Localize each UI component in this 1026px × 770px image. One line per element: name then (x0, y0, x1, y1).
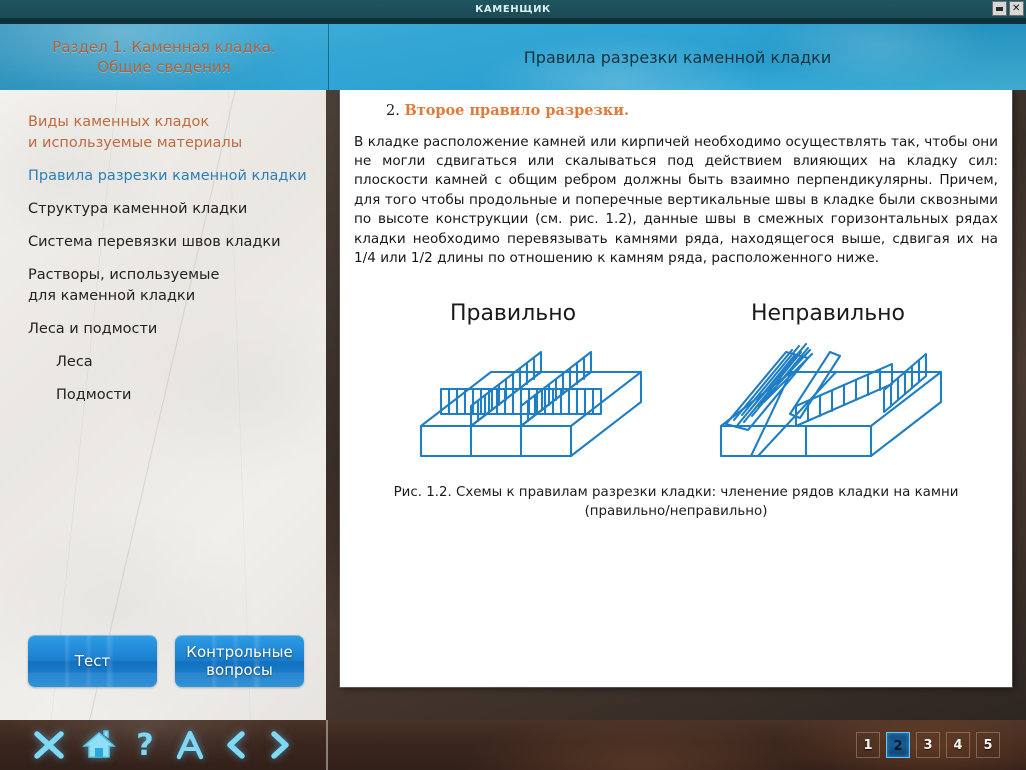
figure-caption-line-1: Рис. 1.2. Схемы к правилам разрезки клад… (352, 483, 1000, 502)
close-x-icon[interactable] (32, 729, 66, 761)
sidebar-item-label: Виды каменных кладок (28, 112, 312, 133)
close-button[interactable]: ✕ (1009, 1, 1024, 16)
content-heading-period: . (624, 102, 629, 119)
home-icon[interactable] (82, 729, 116, 761)
font-size-a-icon[interactable] (174, 729, 206, 761)
sidebar-item-label: Система перевязки швов кладки (28, 232, 312, 253)
sidebar: Виды каменных кладоки используемые матер… (0, 90, 326, 720)
page-title-block: Правила разрезки каменной кладки (329, 24, 1026, 90)
sidebar-item-label: Леса и подмости (28, 319, 312, 340)
window-title: КАМЕНЩИК (475, 4, 551, 15)
test-button[interactable]: Тест (28, 635, 157, 687)
figure-svg: Правильно Неправильно (396, 294, 956, 469)
svg-text:?: ? (136, 729, 153, 761)
content-heading-number: 2. (386, 103, 400, 119)
minimize-button[interactable] (992, 1, 1007, 16)
sidebar-item-1[interactable]: Правила разрезки каменной кладки (0, 160, 326, 193)
sidebar-item-3[interactable]: Система перевязки швов кладки (0, 226, 326, 259)
section-title-line-1: Раздел 1. Каменная кладка. (52, 37, 275, 57)
sidebar-action-buttons: ТестКонтрольныевопросы (28, 635, 304, 687)
toolbar-icon-group: ? (32, 720, 294, 770)
figure-caption: Рис. 1.2. Схемы к правилам разрезки клад… (352, 483, 1000, 521)
control-questions-button[interactable]: Контрольныевопросы (175, 635, 304, 687)
sidebar-item-label: Структура каменной кладки (28, 199, 312, 220)
page-number-group: 12345 (856, 720, 1000, 770)
section-title-line-2: Общие сведения (52, 57, 275, 77)
figure-label-incorrect: Неправильно (751, 301, 905, 326)
figure-label-correct: Правильно (450, 301, 576, 326)
figure-masonry-diagram: Правильно Неправильно (352, 294, 1000, 469)
section-title: Раздел 1. Каменная кладка. Общие сведени… (52, 37, 275, 77)
page-title: Правила разрезки каменной кладки (524, 48, 831, 67)
sidebar-item-label: для каменной кладки (28, 286, 312, 307)
page-button-3[interactable]: 3 (916, 732, 940, 758)
page-button-1[interactable]: 1 (856, 732, 880, 758)
sidebar-item-0[interactable]: Виды каменных кладоки используемые матер… (0, 106, 326, 160)
bottom-toolbar-divider (326, 720, 328, 770)
sidebar-menu: Виды каменных кладоки используемые матер… (0, 90, 326, 412)
sidebar-item-label: Растворы, используемые (28, 265, 312, 286)
section-title-block: Раздел 1. Каменная кладка. Общие сведени… (0, 24, 328, 90)
window-controls: ✕ (992, 1, 1024, 16)
window-title-bar: КАМЕНЩИК ✕ (0, 0, 1026, 18)
diagram-incorrect (721, 344, 941, 456)
sidebar-item-label: и используемые материалы (28, 133, 312, 154)
button-label: Контрольныевопросы (186, 643, 292, 679)
figure-caption-line-2: (правильно/неправильно) (352, 502, 1000, 521)
page-button-2[interactable]: 2 (886, 732, 910, 758)
sidebar-item-5[interactable]: Леса и подмости (0, 313, 326, 346)
content-heading: 2. Второе правило разрезки. (386, 102, 1000, 119)
content-body-text: В кладке расположение камней или кирпиче… (352, 133, 1000, 269)
content-heading-text: Второе правило разрезки (404, 102, 624, 119)
content-panel: 2. Второе правило разрезки. В кладке рас… (340, 90, 1012, 687)
diagram-correct (421, 352, 641, 456)
content-background: 2. Второе правило разрезки. В кладке рас… (326, 90, 1026, 720)
sidebar-item-2[interactable]: Структура каменной кладки (0, 193, 326, 226)
sidebar-item-label: Леса (56, 352, 312, 373)
page-button-4[interactable]: 4 (946, 732, 970, 758)
help-question-icon[interactable]: ? (132, 729, 158, 761)
header-band: Раздел 1. Каменная кладка. Общие сведени… (0, 24, 1026, 90)
page-button-5[interactable]: 5 (976, 732, 1000, 758)
sidebar-item-6[interactable]: Леса (0, 346, 326, 379)
button-label: Тест (75, 652, 110, 670)
sidebar-item-label: Правила разрезки каменной кладки (28, 166, 312, 187)
bottom-toolbar: ? 12345 (0, 720, 1026, 770)
sidebar-item-7[interactable]: Подмости (0, 379, 326, 412)
prev-arrow-icon[interactable] (222, 729, 250, 761)
sidebar-item-label: Подмости (56, 385, 312, 406)
sidebar-item-4[interactable]: Растворы, используемыедля каменной кладк… (0, 259, 326, 313)
next-arrow-icon[interactable] (266, 729, 294, 761)
